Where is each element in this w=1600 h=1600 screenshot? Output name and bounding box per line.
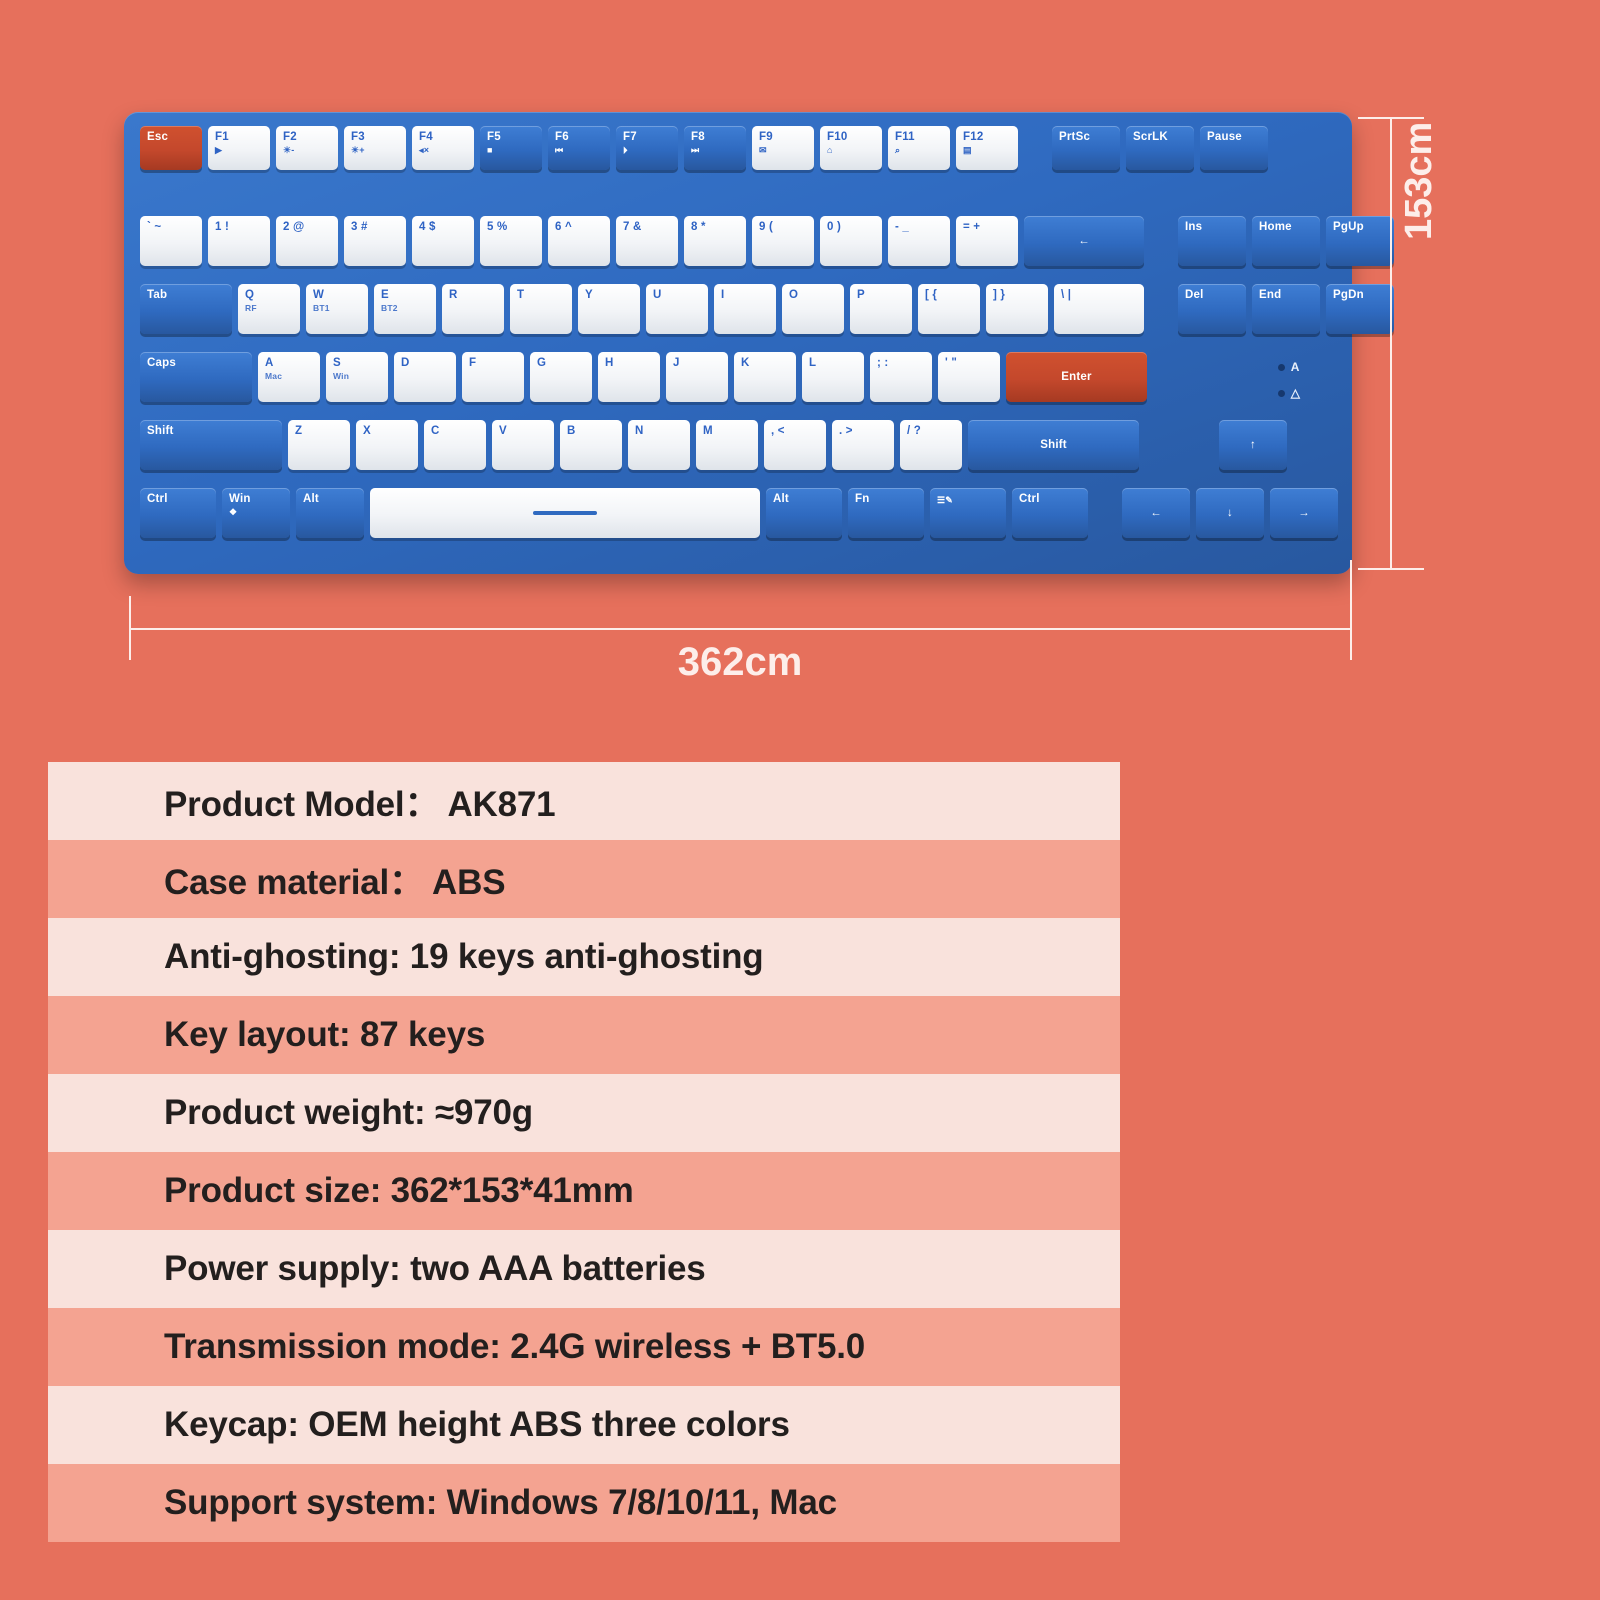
key-8[interactable]: 8 * — [684, 216, 746, 266]
key-pause[interactable]: Pause — [1200, 126, 1268, 170]
key-symbol[interactable]: ; : — [870, 352, 932, 402]
width-dimension-line — [130, 628, 1352, 630]
key-label: PrtSc — [1059, 131, 1090, 143]
key-symbol[interactable]: = + — [956, 216, 1018, 266]
key-shift[interactable]: Shift — [968, 420, 1139, 470]
key-label: PgDn — [1333, 289, 1364, 301]
key-label: F12 — [963, 131, 983, 143]
key-label: ← — [1078, 235, 1090, 247]
product-hero: EscF1▶F2☀-F3☀+F4◂×F5■F6⏮F7⏵F8⏭F9✉F10⌂F11… — [0, 0, 1600, 740]
keyboard-row-modifier: CtrlWin❖AltAltFn☰✎Ctrl←↓→ — [140, 488, 1344, 538]
key-label: F — [469, 357, 476, 369]
key-1[interactable]: 1 ! — [208, 216, 270, 266]
key-label: B — [567, 425, 576, 437]
key-sublabel: Mac — [265, 372, 282, 381]
key-label: R — [449, 289, 458, 301]
key-function-icon: ▤ — [963, 146, 972, 155]
key-w[interactable]: WBT1 — [306, 284, 368, 334]
key-2[interactable]: 2 @ — [276, 216, 338, 266]
spec-row: Power supply: two AAA batteries — [48, 1230, 1120, 1308]
key-x[interactable]: X — [356, 420, 418, 470]
key-function-icon: ⏵ — [623, 146, 628, 155]
key-label: Ins — [1185, 221, 1202, 233]
key-function-icon: ☰✎ — [937, 496, 953, 505]
spec-row-text: Keycap: OEM height ABS three colors — [164, 1405, 790, 1445]
key-f5[interactable]: F5■ — [480, 126, 542, 170]
key-symbol[interactable]: , < — [764, 420, 826, 470]
key-m[interactable]: M — [696, 420, 758, 470]
key-label: \ | — [1061, 289, 1071, 301]
key-symbol[interactable]: [ { — [918, 284, 980, 334]
key-f4[interactable]: F4◂× — [412, 126, 474, 170]
key-f9[interactable]: F9✉ — [752, 126, 814, 170]
key-f8[interactable]: F8⏭ — [684, 126, 746, 170]
key-symbol[interactable]: ← — [1024, 216, 1144, 266]
spec-row: Product weight: ≈970g — [48, 1074, 1120, 1152]
key-symbol[interactable]: ' " — [938, 352, 1000, 402]
key-symbol[interactable]: / ? — [900, 420, 962, 470]
key-label: I — [721, 289, 724, 301]
key-f11[interactable]: F11⌕ — [888, 126, 950, 170]
led-indicator-group: A△ — [1278, 360, 1300, 412]
key-f[interactable]: F — [462, 352, 524, 402]
keyboard-row-shift: ShiftZXCVBNM, <. >/ ?Shift↑ — [140, 420, 1293, 470]
key-l[interactable]: L — [802, 352, 864, 402]
caps-lock-led-glyph: A — [1291, 360, 1300, 374]
key-label: Q — [245, 289, 254, 301]
key-function-icon: ▶ — [215, 146, 222, 155]
key-label: ; : — [877, 357, 888, 369]
key-end[interactable]: End — [1252, 284, 1320, 334]
key-label: E — [381, 289, 389, 301]
height-dimension-label: 153cm — [1398, 122, 1441, 240]
spec-row: Keycap: OEM height ABS three colors — [48, 1386, 1120, 1464]
key-label: Ctrl — [1019, 493, 1040, 505]
key-alt[interactable]: Alt — [766, 488, 842, 538]
key-label: 2 @ — [283, 221, 304, 233]
key-tab[interactable]: Tab — [140, 284, 232, 334]
key-r[interactable]: R — [442, 284, 504, 334]
key-ins[interactable]: Ins — [1178, 216, 1246, 266]
key-g[interactable]: G — [530, 352, 592, 402]
key-symbol[interactable]: ← — [1122, 488, 1190, 538]
key-label: 4 $ — [419, 221, 436, 233]
key-i[interactable]: I — [714, 284, 776, 334]
key-del[interactable]: Del — [1178, 284, 1246, 334]
key-function-icon: ⏮ — [555, 146, 563, 155]
key-d[interactable]: D — [394, 352, 456, 402]
key-9[interactable]: 9 ( — [752, 216, 814, 266]
key-4[interactable]: 4 $ — [412, 216, 474, 266]
width-dimension-label: 362cm — [0, 640, 1480, 685]
key-function-icon: ⌂ — [827, 146, 833, 155]
key-label: F8 — [691, 131, 705, 143]
key-label: F6 — [555, 131, 569, 143]
key-label: Alt — [303, 493, 319, 505]
key-label: [ { — [925, 289, 937, 301]
key-pgup[interactable]: PgUp — [1326, 216, 1394, 266]
key-label: A — [265, 357, 274, 369]
key-label: / ? — [907, 425, 921, 437]
key-c[interactable]: C — [424, 420, 486, 470]
spec-row: Support system: Windows 7/8/10/11, Mac — [48, 1464, 1120, 1542]
key-label: T — [517, 289, 524, 301]
key-label: F5 — [487, 131, 501, 143]
key-prtsc[interactable]: PrtSc — [1052, 126, 1120, 170]
key-sublabel: BT2 — [381, 304, 398, 313]
key-label: PgUp — [1333, 221, 1364, 233]
key-q[interactable]: QRF — [238, 284, 300, 334]
key-function-icon: ☀+ — [351, 146, 365, 155]
key-ctrl[interactable]: Ctrl — [1012, 488, 1088, 538]
key-win[interactable]: Win❖ — [222, 488, 290, 538]
key-symbol[interactable]: . > — [832, 420, 894, 470]
key-label: F2 — [283, 131, 297, 143]
spec-row-text: Product weight: ≈970g — [164, 1093, 533, 1133]
key-7[interactable]: 7 & — [616, 216, 678, 266]
keyboard-row-number: ` ~1 !2 @3 #4 $5 %6 ^7 &8 *9 (0 )- _= +←… — [140, 216, 1400, 266]
key-function-icon: ☀- — [283, 146, 294, 155]
key-label: 9 ( — [759, 221, 773, 233]
key-label: F1 — [215, 131, 229, 143]
key-label: . > — [839, 425, 853, 437]
key-sublabel: Win — [333, 372, 349, 381]
spec-row-text: Key layout: 87 keys — [164, 1015, 485, 1055]
specification-table: Product Model： AK871Case material： ABSAn… — [48, 762, 1120, 1542]
wireless-led: △ — [1278, 386, 1300, 400]
key-label: C — [431, 425, 440, 437]
key-function-icon: ❖ — [229, 508, 237, 517]
key-t[interactable]: T — [510, 284, 572, 334]
key-label: F7 — [623, 131, 637, 143]
key-label: X — [363, 425, 371, 437]
caps-lock-led: A — [1278, 360, 1300, 374]
key-p[interactable]: P — [850, 284, 912, 334]
key-label: F4 — [419, 131, 433, 143]
key-symbol[interactable]: ` ~ — [140, 216, 202, 266]
key-label: M — [703, 425, 713, 437]
spec-row-text: Power supply: two AAA batteries — [164, 1249, 706, 1289]
key-sublabel: RF — [245, 304, 257, 313]
key-v[interactable]: V — [492, 420, 554, 470]
key-label: Win — [229, 493, 251, 505]
key-label: 3 # — [351, 221, 368, 233]
key-symbol[interactable]: - _ — [888, 216, 950, 266]
key-label: 5 % — [487, 221, 507, 233]
key-function-icon: ⏭ — [691, 146, 699, 155]
key-label: ↓ — [1227, 507, 1233, 519]
key-home[interactable]: Home — [1252, 216, 1320, 266]
key-f7[interactable]: F7⏵ — [616, 126, 678, 170]
key-symbol[interactable]: ↑ — [1219, 420, 1287, 470]
spec-row-text: Anti-ghosting: 19 keys anti-ghosting — [164, 937, 763, 977]
key-6[interactable]: 6 ^ — [548, 216, 610, 266]
spec-row-text: Product size: 362*153*41mm — [164, 1171, 634, 1211]
key-label: 6 ^ — [555, 221, 572, 233]
key-shift[interactable]: Shift — [140, 420, 282, 470]
key-sublabel: BT1 — [313, 304, 330, 313]
wireless-led-glyph: △ — [1291, 386, 1300, 400]
key-f2[interactable]: F2☀- — [276, 126, 338, 170]
caps-lock-led-dot — [1278, 364, 1285, 371]
key-label: ] } — [993, 289, 1005, 301]
key-label: F3 — [351, 131, 365, 143]
key-b[interactable]: B — [560, 420, 622, 470]
key-k[interactable]: K — [734, 352, 796, 402]
key-label: W — [313, 289, 324, 301]
spec-row-text: Product Model： AK871 — [164, 776, 555, 827]
key-s[interactable]: SWin — [326, 352, 388, 402]
key-5[interactable]: 5 % — [480, 216, 542, 266]
key-label: ← — [1150, 507, 1162, 519]
key-esc[interactable]: Esc — [140, 126, 202, 170]
key-3[interactable]: 3 # — [344, 216, 406, 266]
key-label: V — [499, 425, 507, 437]
key-label: Ctrl — [147, 493, 168, 505]
key-label: K — [741, 357, 750, 369]
key-label: Esc — [147, 131, 168, 143]
spec-row-text: Support system: Windows 7/8/10/11, Mac — [164, 1483, 837, 1523]
keyboard-row-home: CapsAMacSWinDFGHJKL; :' "Enter — [140, 352, 1153, 402]
key-label: End — [1259, 289, 1281, 301]
key-h[interactable]: H — [598, 352, 660, 402]
spec-row: Product size: 362*153*41mm — [48, 1152, 1120, 1230]
key-symbol[interactable]: ] } — [986, 284, 1048, 334]
key-label: Shift — [1040, 439, 1067, 451]
key-u[interactable]: U — [646, 284, 708, 334]
height-dimension-cap-top — [1358, 117, 1424, 119]
key-label: Enter — [1061, 371, 1091, 383]
keyboard-case: EscF1▶F2☀-F3☀+F4◂×F5■F6⏮F7⏵F8⏭F9✉F10⌂F11… — [124, 112, 1352, 574]
key-alt[interactable]: Alt — [296, 488, 364, 538]
key-label: 8 * — [691, 221, 706, 233]
key-label: N — [635, 425, 644, 437]
key-n[interactable]: N — [628, 420, 690, 470]
key-ctrl[interactable]: Ctrl — [140, 488, 216, 538]
key-a[interactable]: AMac — [258, 352, 320, 402]
key-label: = + — [963, 221, 980, 233]
key-label: Y — [585, 289, 593, 301]
key-label: ` ~ — [147, 221, 161, 233]
key-label: Tab — [147, 289, 167, 301]
key-label: F11 — [895, 131, 915, 143]
key-function-icon: ◂× — [419, 146, 429, 155]
key-f1[interactable]: F1▶ — [208, 126, 270, 170]
key-caps[interactable]: Caps — [140, 352, 252, 402]
spec-row: Transmission mode: 2.4G wireless + BT5.0 — [48, 1308, 1120, 1386]
key-f10[interactable]: F10⌂ — [820, 126, 882, 170]
key-y[interactable]: Y — [578, 284, 640, 334]
key-label: G — [537, 357, 546, 369]
key-label: Del — [1185, 289, 1204, 301]
spec-row: Product Model： AK871 — [48, 762, 1120, 840]
key-label: F10 — [827, 131, 847, 143]
key-function-icon: ✉ — [759, 146, 767, 155]
key-enter[interactable]: Enter — [1006, 352, 1147, 402]
key-label: → — [1298, 507, 1310, 519]
key-label: 0 ) — [827, 221, 841, 233]
key-label: S — [333, 357, 341, 369]
keyboard-row-tab: TabQRFWBT1EBT2RTYUIOP[ {] }\ |DelEndPgDn — [140, 284, 1400, 334]
key-space[interactable] — [370, 488, 760, 538]
key-symbol[interactable]: → — [1270, 488, 1338, 538]
key-label: Alt — [773, 493, 789, 505]
key-label: H — [605, 357, 614, 369]
key-fn[interactable]: Fn — [848, 488, 924, 538]
height-dimension-line — [1390, 118, 1392, 570]
key-e[interactable]: EBT2 — [374, 284, 436, 334]
key-label: ↑ — [1250, 439, 1256, 451]
key-label: L — [809, 357, 816, 369]
key-f6[interactable]: F6⏮ — [548, 126, 610, 170]
key-function-icon: ■ — [487, 146, 493, 155]
key-label: F9 — [759, 131, 773, 143]
key-label: U — [653, 289, 662, 301]
spec-row-text: Transmission mode: 2.4G wireless + BT5.0 — [164, 1327, 865, 1367]
keyboard-row-function: EscF1▶F2☀-F3☀+F4◂×F5■F6⏮F7⏵F8⏭F9✉F10⌂F11… — [140, 126, 1274, 170]
key-label: Fn — [855, 493, 869, 505]
spec-row: Anti-ghosting: 19 keys anti-ghosting — [48, 918, 1120, 996]
key-j[interactable]: J — [666, 352, 728, 402]
key-label: - _ — [895, 221, 909, 233]
key-z[interactable]: Z — [288, 420, 350, 470]
key-label: J — [673, 357, 680, 369]
wireless-led-dot — [1278, 390, 1285, 397]
key-label: 7 & — [623, 221, 642, 233]
key-label: Caps — [147, 357, 176, 369]
key-label: O — [789, 289, 798, 301]
spec-row: Case material： ABS — [48, 840, 1120, 918]
key-label: , < — [771, 425, 785, 437]
key-0[interactable]: 0 ) — [820, 216, 882, 266]
key-symbol[interactable]: \ | — [1054, 284, 1144, 334]
key-label: ScrLK — [1133, 131, 1168, 143]
key-f12[interactable]: F12▤ — [956, 126, 1018, 170]
key-symbol[interactable]: ↓ — [1196, 488, 1264, 538]
key-label: P — [857, 289, 865, 301]
key-label: ' " — [945, 357, 957, 369]
key-label: 1 ! — [215, 221, 229, 233]
key-f3[interactable]: F3☀+ — [344, 126, 406, 170]
key-menu[interactable]: ☰✎ — [930, 488, 1006, 538]
key-label: D — [401, 357, 410, 369]
key-label: Z — [295, 425, 302, 437]
key-label: Pause — [1207, 131, 1242, 143]
key-label: Shift — [147, 425, 174, 437]
key-function-icon: ⌕ — [895, 146, 900, 155]
height-dimension-cap-bottom — [1358, 568, 1424, 570]
key-pgdn[interactable]: PgDn — [1326, 284, 1394, 334]
spec-row: Key layout: 87 keys — [48, 996, 1120, 1074]
spec-row-text: Case material： ABS — [164, 854, 505, 905]
key-label: Home — [1259, 221, 1292, 233]
key-o[interactable]: O — [782, 284, 844, 334]
spacebar-stripe — [533, 511, 597, 515]
key-scrlk[interactable]: ScrLK — [1126, 126, 1194, 170]
